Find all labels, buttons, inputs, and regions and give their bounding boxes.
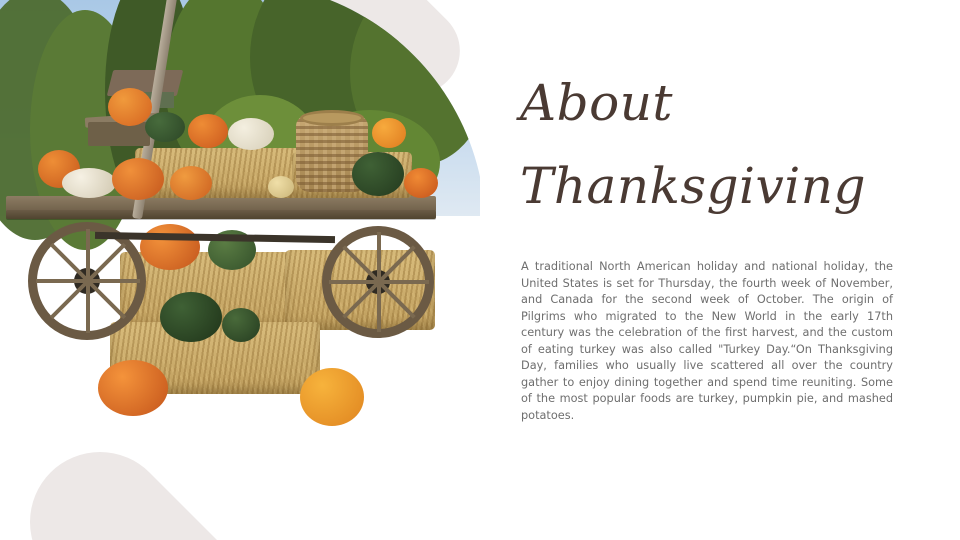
cart-box <box>88 122 150 146</box>
squash-green-top-1 <box>145 112 185 142</box>
pumpkin-orange-low-3 <box>300 368 364 426</box>
squash-green-mid-1 <box>352 152 404 196</box>
pumpkin-orange-low-1 <box>140 224 200 270</box>
slide-canvas: About Thanksgiving A traditional North A… <box>0 0 960 540</box>
page-title: About Thanksgiving <box>520 62 920 228</box>
pumpkin-orange-mid-2 <box>112 158 164 200</box>
gourd-small-1 <box>268 176 294 198</box>
thanksgiving-photo <box>0 0 480 470</box>
squash-green-low-3 <box>222 308 260 342</box>
cart-plank-upper-shadow <box>6 210 436 219</box>
pumpkin-orange-low-2 <box>98 360 168 416</box>
pumpkin-white-top-1 <box>228 118 274 150</box>
pumpkin-white-mid-1 <box>62 168 116 198</box>
pumpkin-orange-top-3 <box>372 118 406 148</box>
pumpkin-orange-top-2 <box>188 114 228 148</box>
squash-green-low-2 <box>160 292 222 342</box>
pumpkin-orange-top-1 <box>108 88 152 126</box>
title-line-2: Thanksgiving <box>520 145 920 228</box>
basket-rim <box>300 110 364 126</box>
pumpkin-orange-mid-4 <box>404 168 438 198</box>
pumpkin-orange-mid-3 <box>170 166 212 200</box>
body-paragraph: A traditional North American holiday and… <box>521 259 893 424</box>
title-line-1: About <box>520 62 920 145</box>
photo-artwork <box>0 0 480 470</box>
